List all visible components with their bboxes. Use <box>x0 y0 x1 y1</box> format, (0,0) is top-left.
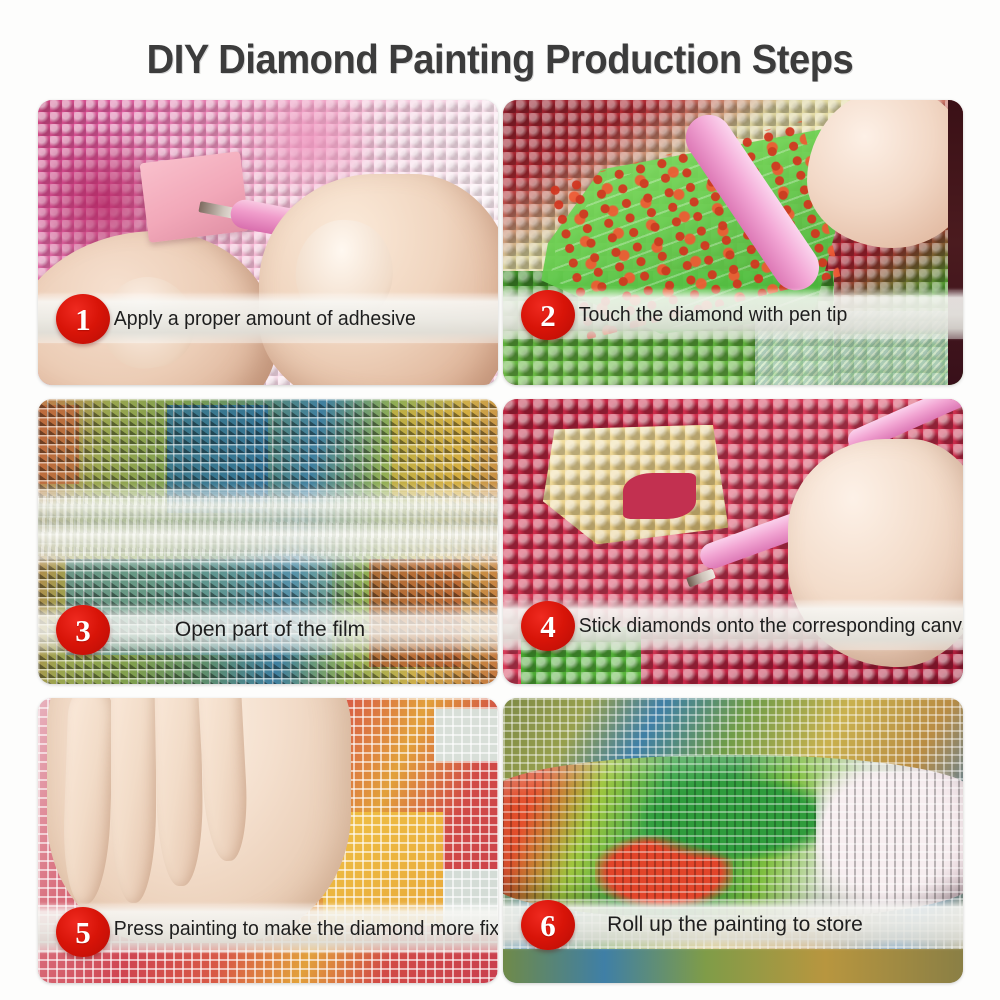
step-number-2: 2 <box>540 300 556 331</box>
step-card-5[interactable]: Press painting to make the diamond more … <box>38 698 498 983</box>
step-caption-2: Touch the diamond with pen tip <box>575 303 847 327</box>
step-caption-3: Open part of the film <box>171 618 365 642</box>
step-card-2[interactable]: Touch the diamond with pen tip 2 <box>503 100 963 385</box>
step-number-6: 6 <box>540 910 556 941</box>
step-caption-6: Roll up the painting to store <box>603 913 863 937</box>
step-badge-5: 5 <box>56 907 110 957</box>
steps-grid: Apply a proper amount of adhesive 1 Touc… <box>38 100 963 983</box>
step-badge-4: 4 <box>521 601 575 651</box>
step-badge-3: 3 <box>56 605 110 655</box>
step-card-1[interactable]: Apply a proper amount of adhesive 1 <box>38 100 498 385</box>
step-card-4[interactable]: Stick diamonds onto the corresponding ca… <box>503 399 963 684</box>
step-number-1: 1 <box>75 304 91 335</box>
step-number-3: 3 <box>75 615 91 646</box>
step-number-4: 4 <box>540 611 556 642</box>
step-image-2 <box>503 100 963 385</box>
step-card-6[interactable]: Roll up the painting to store 6 <box>503 698 963 983</box>
infographic-page: DIY Diamond Painting Production Steps Ap… <box>0 0 1000 1000</box>
step-badge-2: 2 <box>521 290 575 340</box>
step-badge-1: 1 <box>56 294 110 344</box>
step-number-5: 5 <box>75 917 91 948</box>
step-caption-1: Apply a proper amount of adhesive <box>110 307 416 331</box>
page-title: DIY Diamond Painting Production Steps <box>35 36 965 83</box>
step-badge-6: 6 <box>521 900 575 950</box>
step-card-3[interactable]: Open part of the film 3 <box>38 399 498 684</box>
step-caption-4: Stick diamonds onto the corresponding ca… <box>575 614 963 638</box>
step-caption-5: Press painting to make the diamond more … <box>110 917 498 941</box>
